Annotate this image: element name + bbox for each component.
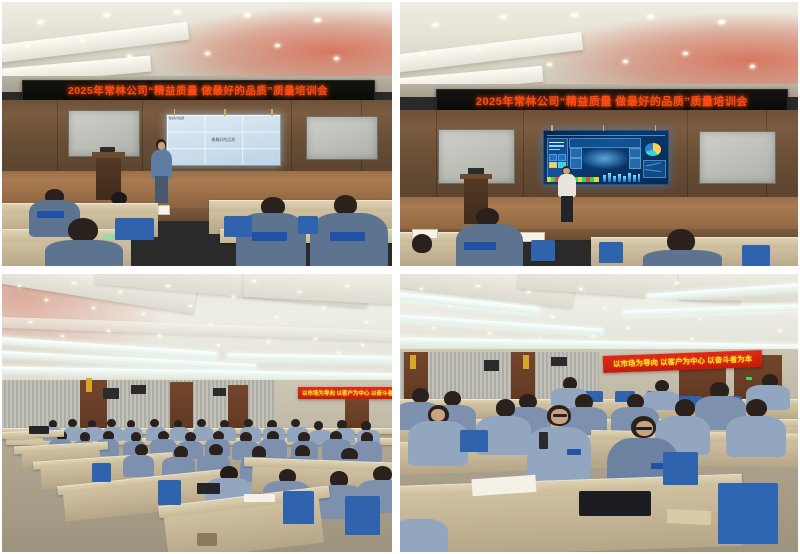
right-projection-screen (699, 131, 777, 183)
podium-microphone (100, 147, 116, 152)
wall-plaque (410, 355, 416, 369)
wall-plaque (523, 355, 529, 369)
eyeglasses (553, 414, 567, 417)
attendee-body (45, 240, 123, 266)
ceiling-light (174, 10, 181, 14)
uniform-logo (252, 232, 287, 241)
ceiling-light (244, 13, 251, 17)
attendee-head (412, 234, 432, 252)
questioner-body (527, 427, 591, 483)
chair (115, 218, 154, 239)
dashboard-pie-chart (645, 143, 661, 157)
attendee-head (68, 218, 97, 242)
presenter-body (151, 150, 171, 179)
chair (460, 430, 488, 452)
led-banner-top-right: 2025年常林公司“精益质量 做最好的品质”质量培训会 (436, 89, 788, 112)
presenter-legs (561, 196, 573, 222)
presenter-face (158, 142, 165, 149)
wall-speaker (484, 360, 500, 371)
chair (531, 240, 555, 261)
uniform-logo (330, 232, 365, 241)
ceiling-light (80, 39, 85, 42)
chair (599, 242, 623, 263)
exit-light (746, 377, 752, 380)
wall-plaque (86, 378, 92, 392)
presenter-body (558, 174, 576, 198)
photo-panel-bottom-right[interactable]: 以市场为导向 以客户为中心 以奋斗者为本 (400, 274, 798, 552)
ceiling-light (623, 60, 628, 63)
ceiling-light (476, 47, 481, 50)
attendee-body (400, 519, 448, 552)
photo-panel-top-right[interactable]: 2025年常林公司“精益质量 做最好的品质”质量培训会 (400, 2, 798, 266)
envelope (666, 509, 710, 525)
attendee-body (643, 250, 723, 266)
red-slogan-banner-bottom-left: 以市场为导向 以客户为中心 以奋斗者为本 (298, 387, 392, 400)
leather-folder (579, 491, 651, 516)
uniform-logo (464, 242, 496, 250)
photo-collage: 2025年常林公司“精益质量 做最好的品质”质量培训会 做最好的品质 做最好的品… (0, 0, 800, 554)
ceiling-light (432, 23, 439, 27)
open-book (244, 494, 275, 502)
ceiling-light (500, 15, 507, 19)
microphone (539, 432, 548, 449)
uniform-logo (37, 211, 64, 219)
podium-top (92, 152, 125, 157)
right-projection-screen (306, 116, 378, 160)
dashboard-heatmap (574, 177, 599, 182)
eyeglasses (636, 427, 652, 430)
ceiling-red-glow (150, 7, 392, 81)
attendee-head (334, 195, 357, 215)
chair (224, 216, 251, 237)
wall-speaker (131, 385, 147, 393)
wall-speaker (103, 388, 119, 399)
chair (298, 216, 318, 234)
uniform-logo (567, 449, 581, 455)
dashboard-map (581, 148, 628, 169)
podium-top (460, 174, 492, 179)
center-presentation-screen: 做最好的品质 做最好的品质 (166, 114, 281, 166)
ceiling-light (314, 18, 321, 22)
led-banner-top-left: 2025年常林公司“精益质量 做最好的品质”质量培训会 (22, 80, 375, 102)
wall-speaker (551, 357, 567, 365)
laptop (197, 483, 220, 494)
photo-panel-bottom-left[interactable]: 以市场为导向 以客户为中心 以奋斗者为本 (2, 274, 392, 552)
chair (718, 483, 778, 544)
presenter-legs (155, 176, 167, 202)
ceiling-light (683, 52, 688, 55)
laptop (29, 426, 49, 434)
ceiling-red-glow (539, 13, 798, 92)
wall-speaker (213, 388, 227, 396)
photo-panel-top-left[interactable]: 2025年常林公司“精益质量 做最好的品质”质量培训会 做最好的品质 做最好的品… (2, 2, 392, 266)
ceiling-light (547, 63, 552, 66)
chair (663, 452, 699, 485)
chair (742, 245, 770, 266)
podium-microphone (468, 168, 484, 173)
ceiling-light (103, 13, 110, 17)
shoe (197, 533, 217, 547)
ceiling-light (571, 13, 578, 17)
ceiling-light (127, 55, 132, 58)
